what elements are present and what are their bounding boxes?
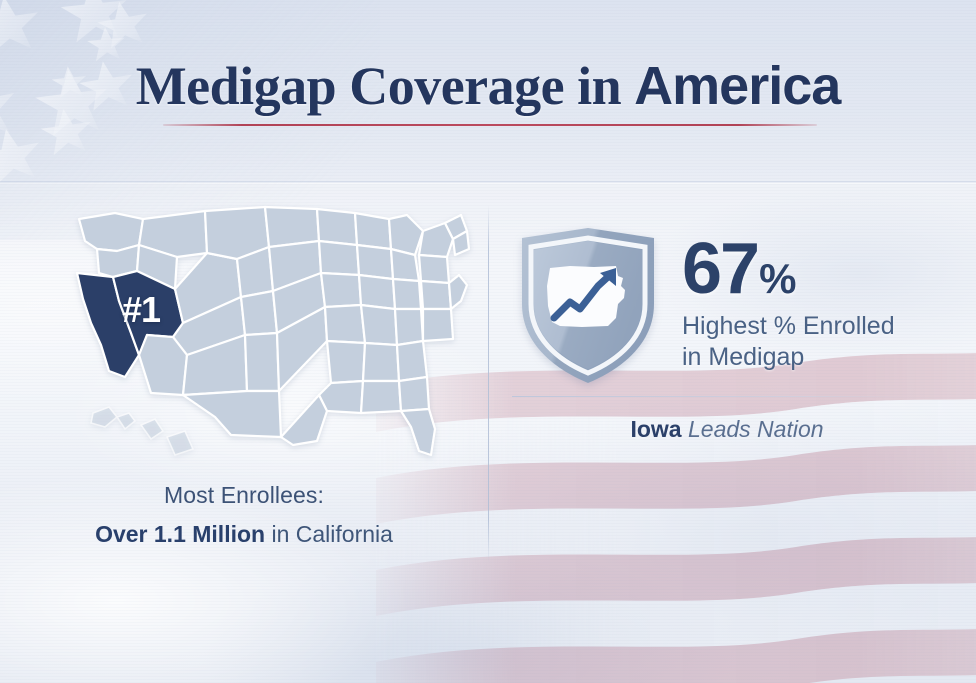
stat-unit: % [759, 255, 795, 302]
map-caption-line2: Over 1.1 Million in California [0, 517, 488, 552]
us-map[interactable] [55, 205, 475, 460]
column-divider [488, 205, 489, 563]
flag-stars-icon [0, 0, 380, 240]
page-title-emphasis: America [634, 56, 840, 116]
stat-label-line2: in Medigap [682, 342, 895, 373]
stat-text: 67% Highest % Enrolled in Medigap [682, 228, 895, 372]
stat-label-line1: Highest % Enrolled [682, 311, 895, 342]
shield-growth-icon [512, 226, 664, 386]
stat-label: Highest % Enrolled in Medigap [682, 311, 895, 372]
page-title: Medigap Coverage in America [0, 58, 976, 115]
lead-state-suffix: Leads Nation [682, 416, 824, 442]
page-title-wrap: Medigap Coverage in America [0, 58, 976, 115]
stat-value-row: 67% [682, 236, 895, 302]
rank-badge: #1 [122, 289, 160, 331]
map-caption-line1: Most Enrollees: [0, 478, 488, 513]
page-title-regular: Medigap Coverage in [136, 56, 634, 116]
map-caption-state: in California [265, 521, 393, 547]
stat-block: 67% Highest % Enrolled in Medigap [512, 228, 942, 393]
title-underline-rule [163, 124, 817, 126]
lead-state-name: Iowa [630, 416, 681, 442]
stat-value: 67 [682, 229, 758, 309]
map-caption: Most Enrollees: Over 1.1 Million in Cali… [0, 478, 488, 551]
lead-nation-line: Iowa Leads Nation [512, 415, 942, 445]
map-caption-value: Over 1.1 Million [95, 521, 265, 547]
infographic-poster: Medigap Coverage in America [0, 0, 976, 683]
stat-divider [512, 396, 912, 397]
